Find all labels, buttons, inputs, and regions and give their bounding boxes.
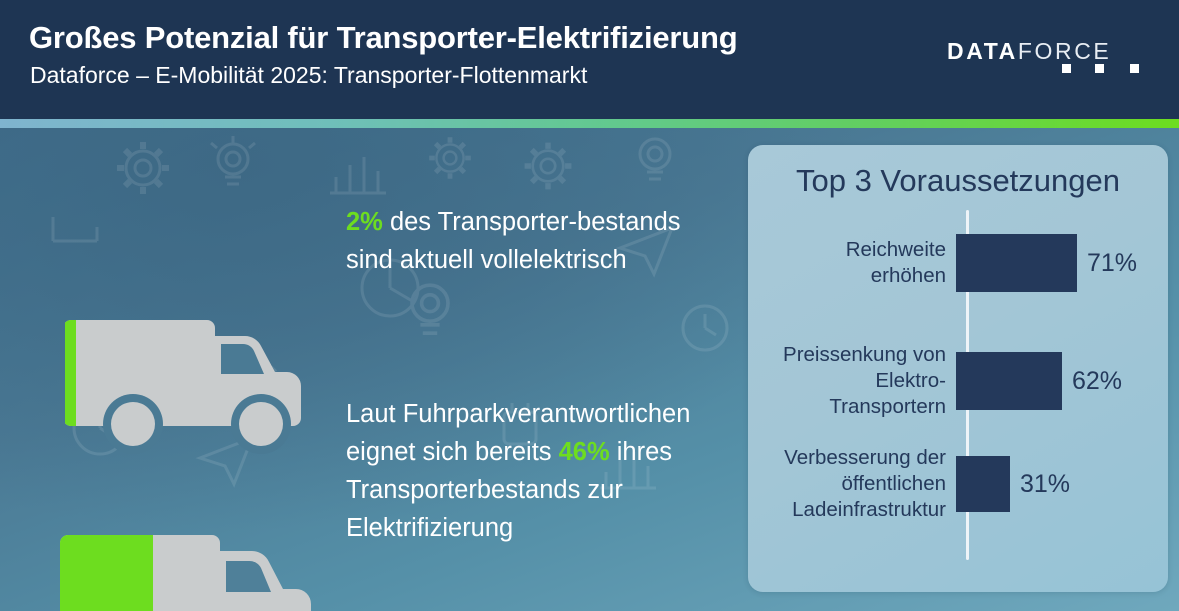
chart-row: Reichweite erhöhen 71% (748, 234, 1168, 292)
horizontal-bar-chart: Reichweite erhöhen 71% Preissenkung von … (748, 210, 1168, 580)
gradient-divider (0, 119, 1179, 128)
chart-bar-wrap-2: 31% (956, 456, 1168, 512)
stat-text-electric-share: des Transporter-bestands sind aktuell vo… (346, 208, 681, 274)
chart-bar-1 (956, 352, 1062, 410)
chart-bar-wrap-1: 62% (956, 352, 1168, 410)
logo-square-icon-1 (1062, 64, 1071, 73)
header-bar: Großes Potenzial für Transporter-Elektri… (0, 0, 1179, 119)
logo-text-force: FORCE (1018, 38, 1112, 64)
page-title: Großes Potenzial für Transporter-Elektri… (29, 20, 738, 56)
chart-bar-0 (956, 234, 1077, 292)
stat-highlight-2-percent: 2% (346, 208, 383, 236)
chart-category-line: Ladeinfrastruktur (748, 497, 946, 523)
infographic-root: Großes Potenzial für Transporter-Elektri… (0, 0, 1179, 611)
chart-category-line: erhöhen (748, 263, 946, 289)
stat-highlight-46-percent: 46% (559, 438, 610, 466)
stat-block-suitability: Laut Fuhrparkverantwortlichen eignet sic… (346, 395, 736, 547)
logo-square-icon-3 (1130, 64, 1139, 73)
truck-illustration-2-percent (65, 306, 321, 458)
chart-category-label-1: Preissenkung von Elektro- Transportern (748, 342, 956, 420)
panel-title: Top 3 Voraussetzungen (748, 163, 1168, 199)
truck-illustration-46-percent (60, 521, 330, 611)
chart-category-label-0: Reichweite erhöhen (748, 237, 956, 289)
chart-row: Verbesserung der öffentlichen Ladeinfras… (748, 456, 1168, 512)
chart-value-label-0: 71% (1077, 249, 1137, 278)
chart-row: Preissenkung von Elektro- Transportern 6… (748, 352, 1168, 410)
chart-value-label-2: 31% (1010, 470, 1070, 499)
dataforce-logo: DATAFORCE (947, 38, 1157, 80)
chart-category-line: öffentlichen (748, 471, 946, 497)
logo-square-icon-2 (1095, 64, 1104, 73)
logo-text-data: DATA (947, 38, 1018, 64)
chart-category-line: Verbesserung der (748, 445, 946, 471)
chart-category-line: Reichweite (748, 237, 946, 263)
logo-wordmark: DATAFORCE (947, 38, 1111, 65)
chart-category-line: Preissenkung von (748, 342, 946, 368)
page-subtitle: Dataforce – E-Mobilität 2025: Transporte… (30, 62, 587, 89)
chart-bar-2 (956, 456, 1010, 512)
chart-category-line: Elektro- (748, 368, 946, 394)
stat-block-electric-share: 2% des Transporter-bestands sind aktuell… (346, 203, 706, 279)
chart-bar-wrap-0: 71% (956, 234, 1168, 292)
chart-category-line: Transportern (748, 394, 946, 420)
top3-requirements-panel: Top 3 Voraussetzungen Reichweite erhöhen… (748, 145, 1168, 592)
chart-category-label-2: Verbesserung der öffentlichen Ladeinfras… (748, 445, 956, 523)
chart-value-label-1: 62% (1062, 367, 1122, 396)
